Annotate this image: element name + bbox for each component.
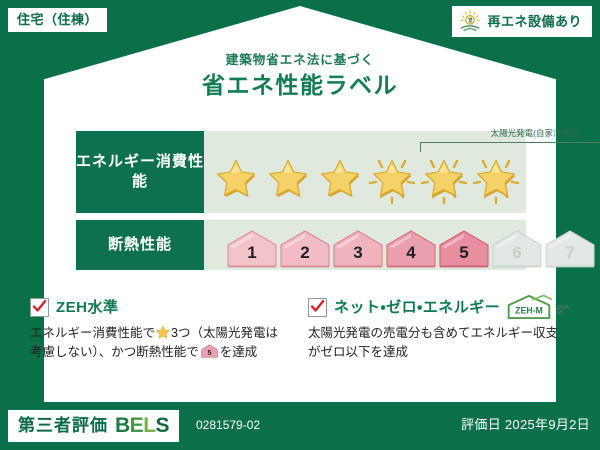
criterion-zeh-standard: ZEH水準 エネルギー消費性能で3つ（太陽光発電は考慮しない）、かつ断熱性能で5… [30, 296, 300, 363]
star-icon [265, 156, 311, 202]
renewable-badge-label: 再エネ設備あり [487, 15, 582, 28]
title-block: 建築物省エネ法に基づく 省エネ性能ラベル [0, 54, 600, 97]
performance-rows: エネルギー消費性能 太陽光発電(自家消費)分 断熱性能 1234567 [76, 131, 526, 277]
star-icon [473, 156, 519, 202]
star-base [210, 150, 262, 210]
energy-performance-label: 住宅（住棟） 再エネ設備あり 建築物省エネ法に基づく 省エネ性能ラベル [0, 0, 600, 450]
criterion-nze-header: ネット・ゼロ・エネルギー ZEH-M [ZEH-M] [308, 296, 570, 318]
insulation-performance-row: 断熱性能 1234567 [76, 220, 526, 270]
nze-description: 太陽光発電の売電分も含めてエネルギー収支がゼロ以下を達成 [308, 324, 570, 363]
star-icon [317, 156, 363, 202]
insulation-performance-scale: 1234567 [204, 220, 526, 270]
criteria-section: ZEH水準 エネルギー消費性能で3つ（太陽光発電は考慮しない）、かつ断熱性能で5… [30, 296, 570, 363]
zeh-description: エネルギー消費性能で3つ（太陽光発電は考慮しない）、かつ断熱性能で5を達成 [30, 324, 290, 363]
evaluation-date: 評価日 2025年9月2日 [461, 418, 590, 431]
bels-letter-e: E [130, 414, 144, 437]
solar-note-text: 太陽光発電(自家消費)分 [418, 129, 600, 138]
insulation-grade-3: 3 [332, 228, 384, 268]
insulation-grade-number: 7 [565, 244, 574, 268]
insulation-grade-5: 5 [438, 228, 490, 268]
star-icon [369, 156, 415, 202]
criterion-net-zero-energy: ネット・ゼロ・エネルギー ZEH-M [ZEH-M] 太陽光発電の売電分も含めて… [300, 296, 580, 363]
energy-performance-scale: 太陽光発電(自家消費)分 [204, 131, 526, 213]
bels-wordmark: BELS [115, 415, 169, 436]
star-solar [470, 150, 522, 210]
check-icon [310, 299, 325, 314]
bels-letter-s: S [156, 414, 170, 437]
insulation-grade-6: 6 [491, 228, 543, 268]
insulation-grade-number: 2 [300, 244, 309, 268]
zeh-m-logo-text: ZEH-M [515, 305, 543, 315]
energy-performance-label-text: エネルギー消費性能 [76, 152, 204, 193]
star-solar [366, 150, 418, 210]
nze-checkbox[interactable] [308, 298, 327, 317]
housing-type-label: 住宅（住棟） [17, 12, 98, 27]
star-rating [210, 149, 522, 211]
insulation-performance-label: 断熱性能 [76, 220, 204, 270]
inline-house-number: 5 [207, 349, 211, 358]
star-solar [418, 150, 470, 210]
insulation-grade-number: 3 [353, 244, 362, 268]
bels-evaluation-tag: 第三者評価 BELS [8, 410, 179, 442]
housing-type-tag: 住宅（住棟） [8, 8, 107, 32]
zeh-desc-part1: エネルギー消費性能で [30, 326, 155, 340]
star-base [314, 150, 366, 210]
inline-house-badge-icon: 5 [201, 344, 218, 358]
insulation-grade-2: 2 [279, 228, 331, 268]
star-base [262, 150, 314, 210]
third-party-label: 第三者評価 [18, 417, 108, 434]
title-subtitle: 建築物省エネ法に基づく [0, 54, 600, 67]
zeh-desc-part3: を達成 [220, 345, 258, 359]
bels-letter-b: B [115, 414, 130, 437]
sun-solar-icon [458, 10, 482, 32]
energy-performance-row: エネルギー消費性能 太陽光発電(自家消費)分 [76, 131, 526, 213]
footer-bar: 第三者評価 BELS 0281579-02 評価日 2025年9月2日 [0, 404, 600, 450]
zeh-title: ZEH水準 [56, 300, 119, 315]
insulation-grade-7: 7 [544, 228, 596, 268]
bels-certificate-number: 0281579-02 [196, 419, 260, 431]
bels-letter-l: L [143, 414, 155, 437]
insulation-grade-1: 1 [226, 228, 278, 268]
zeh-m-logo-icon: ZEH-M [505, 294, 553, 320]
star-icon [213, 156, 259, 202]
insulation-grade-number: 4 [406, 244, 415, 268]
renewable-equipment-badge: 再エネ設備あり [452, 6, 592, 37]
nze-title: ネット・ゼロ・エネルギー [334, 300, 500, 315]
inline-star-icon [156, 325, 170, 339]
insulation-grade-number: 5 [459, 244, 468, 268]
title-main: 省エネ性能ラベル [0, 74, 600, 97]
insulation-grade-number: 6 [512, 244, 521, 268]
insulation-grade-number: 1 [247, 244, 256, 268]
criterion-zeh-header: ZEH水準 [30, 296, 290, 318]
insulation-grade-list: 1234567 [226, 225, 522, 268]
insulation-performance-label-text: 断熱性能 [108, 235, 172, 255]
check-icon [32, 299, 47, 314]
star-icon [421, 156, 467, 202]
energy-performance-label: エネルギー消費性能 [76, 131, 204, 213]
zeh-checkbox[interactable] [30, 298, 49, 317]
insulation-grade-4: 4 [385, 228, 437, 268]
zeh-m-logo-subtext: [ZEH-M] [557, 306, 570, 318]
